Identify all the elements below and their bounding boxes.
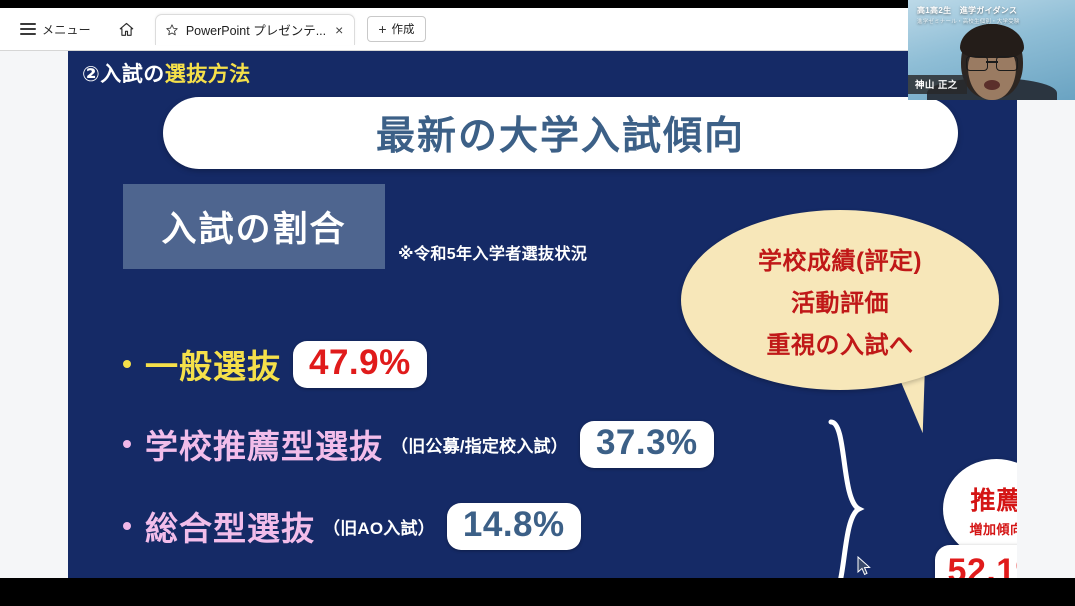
- screen: メニュー PowerPoint プレゼンテ... × + 作成: [0, 0, 1075, 606]
- speech-bubble-line: 重視の入試へ: [767, 325, 914, 360]
- stage-bottom-bar: [0, 578, 1075, 606]
- speaker-mouth: [984, 80, 1000, 90]
- plus-icon: +: [378, 22, 386, 36]
- slide-kicker-highlight: 選抜方法: [165, 63, 251, 86]
- browser-menu-button[interactable]: メニュー: [12, 17, 99, 42]
- home-button[interactable]: [113, 15, 141, 43]
- percent-chip: 14.8%: [447, 503, 581, 550]
- powerpoint-slide[interactable]: ②入試の選抜方法 最新の大学入試傾向 入試の割合 ※令和5年入学者選抜状況 一般…: [68, 50, 1017, 578]
- slide-kicker-prefix: ②入試の: [82, 63, 165, 86]
- speaker-hair: [960, 24, 1024, 58]
- recommendation-badge: 推薦 増加傾向: [943, 459, 1017, 559]
- presentation-stage: ②入試の選抜方法 最新の大学入試傾向 入試の割合 ※令和5年入学者選抜状況 一般…: [0, 50, 1075, 606]
- create-tab-label: 作成: [392, 21, 415, 37]
- slide-kicker: ②入試の選抜方法: [82, 58, 251, 88]
- recommendation-badge-title: 推薦: [970, 481, 1017, 517]
- speech-bubble: 学校成績(評定) 活動評価 重視の入試へ: [681, 210, 999, 390]
- selection-row-comprehensive: 総合型選抜 （旧AO入試） 14.8%: [123, 502, 581, 550]
- browser-toolbar-left: メニュー PowerPoint プレゼンテ... × + 作成: [0, 14, 426, 45]
- video-overlay-subtitle: 進学ゼミナール・高校生個別・大学受験: [917, 17, 1020, 25]
- bullet-dot-icon: [123, 440, 131, 448]
- slide-title-pill: 最新の大学入試傾向: [163, 97, 958, 169]
- webcam-video-overlay[interactable]: 高1高2生 進学ガイダンス 進学ゼミナール・高校生個別・大学受験 神山 正之: [908, 0, 1075, 100]
- selection-label: 一般選抜: [145, 340, 281, 388]
- percent-value: 14.8%: [463, 505, 565, 545]
- curly-brace-icon: [823, 418, 867, 578]
- bullet-dot-icon: [123, 360, 131, 368]
- recommendation-badge-subtitle: 増加傾向: [969, 519, 1017, 538]
- speech-bubble-line: 学校成績(評定): [758, 241, 922, 276]
- percent-chip: 47.9%: [293, 341, 427, 388]
- selection-sublabel: （旧公募/指定校入試）: [391, 432, 568, 457]
- recommendation-total-chip: 52.1%: [935, 545, 1017, 578]
- home-icon: [118, 21, 135, 38]
- selection-row-school-recommendation: 学校推薦型選抜 （旧公募/指定校入試） 37.3%: [123, 420, 714, 468]
- speech-bubble-line: 活動評価: [791, 283, 889, 318]
- selection-sublabel: （旧AO入試）: [323, 514, 435, 539]
- ratio-source-note: ※令和5年入学者選抜状況: [398, 240, 587, 264]
- percent-value: 37.3%: [596, 423, 698, 463]
- ratio-heading-box: 入試の割合: [123, 184, 385, 269]
- percent-chip: 37.3%: [580, 421, 714, 468]
- selection-row-general: 一般選抜 47.9%: [123, 340, 427, 388]
- browser-menu-label: メニュー: [42, 21, 91, 38]
- selection-label: 学校推薦型選抜: [145, 420, 383, 468]
- bullet-dot-icon: [123, 522, 131, 530]
- star-icon: [165, 23, 179, 37]
- close-icon[interactable]: ×: [333, 23, 345, 37]
- recommendation-total-value: 52.1%: [948, 552, 1017, 579]
- speech-bubble-text: 学校成績(評定) 活動評価 重視の入試へ: [681, 210, 999, 390]
- create-tab-button[interactable]: + 作成: [367, 16, 425, 42]
- speaker-glasses-icon: [966, 56, 1018, 69]
- slide-title: 最新の大学入試傾向: [376, 105, 745, 161]
- ratio-heading-label: 入試の割合: [161, 201, 346, 252]
- video-overlay-title: 高1高2生 進学ガイダンス: [917, 5, 1017, 16]
- percent-value: 47.9%: [309, 343, 411, 383]
- selection-label: 総合型選抜: [145, 502, 315, 550]
- speaker-name-label: 神山 正之: [908, 75, 967, 94]
- browser-tab-title: PowerPoint プレゼンテ...: [186, 20, 326, 39]
- browser-tab[interactable]: PowerPoint プレゼンテ... ×: [155, 14, 356, 45]
- hamburger-icon: [20, 23, 36, 35]
